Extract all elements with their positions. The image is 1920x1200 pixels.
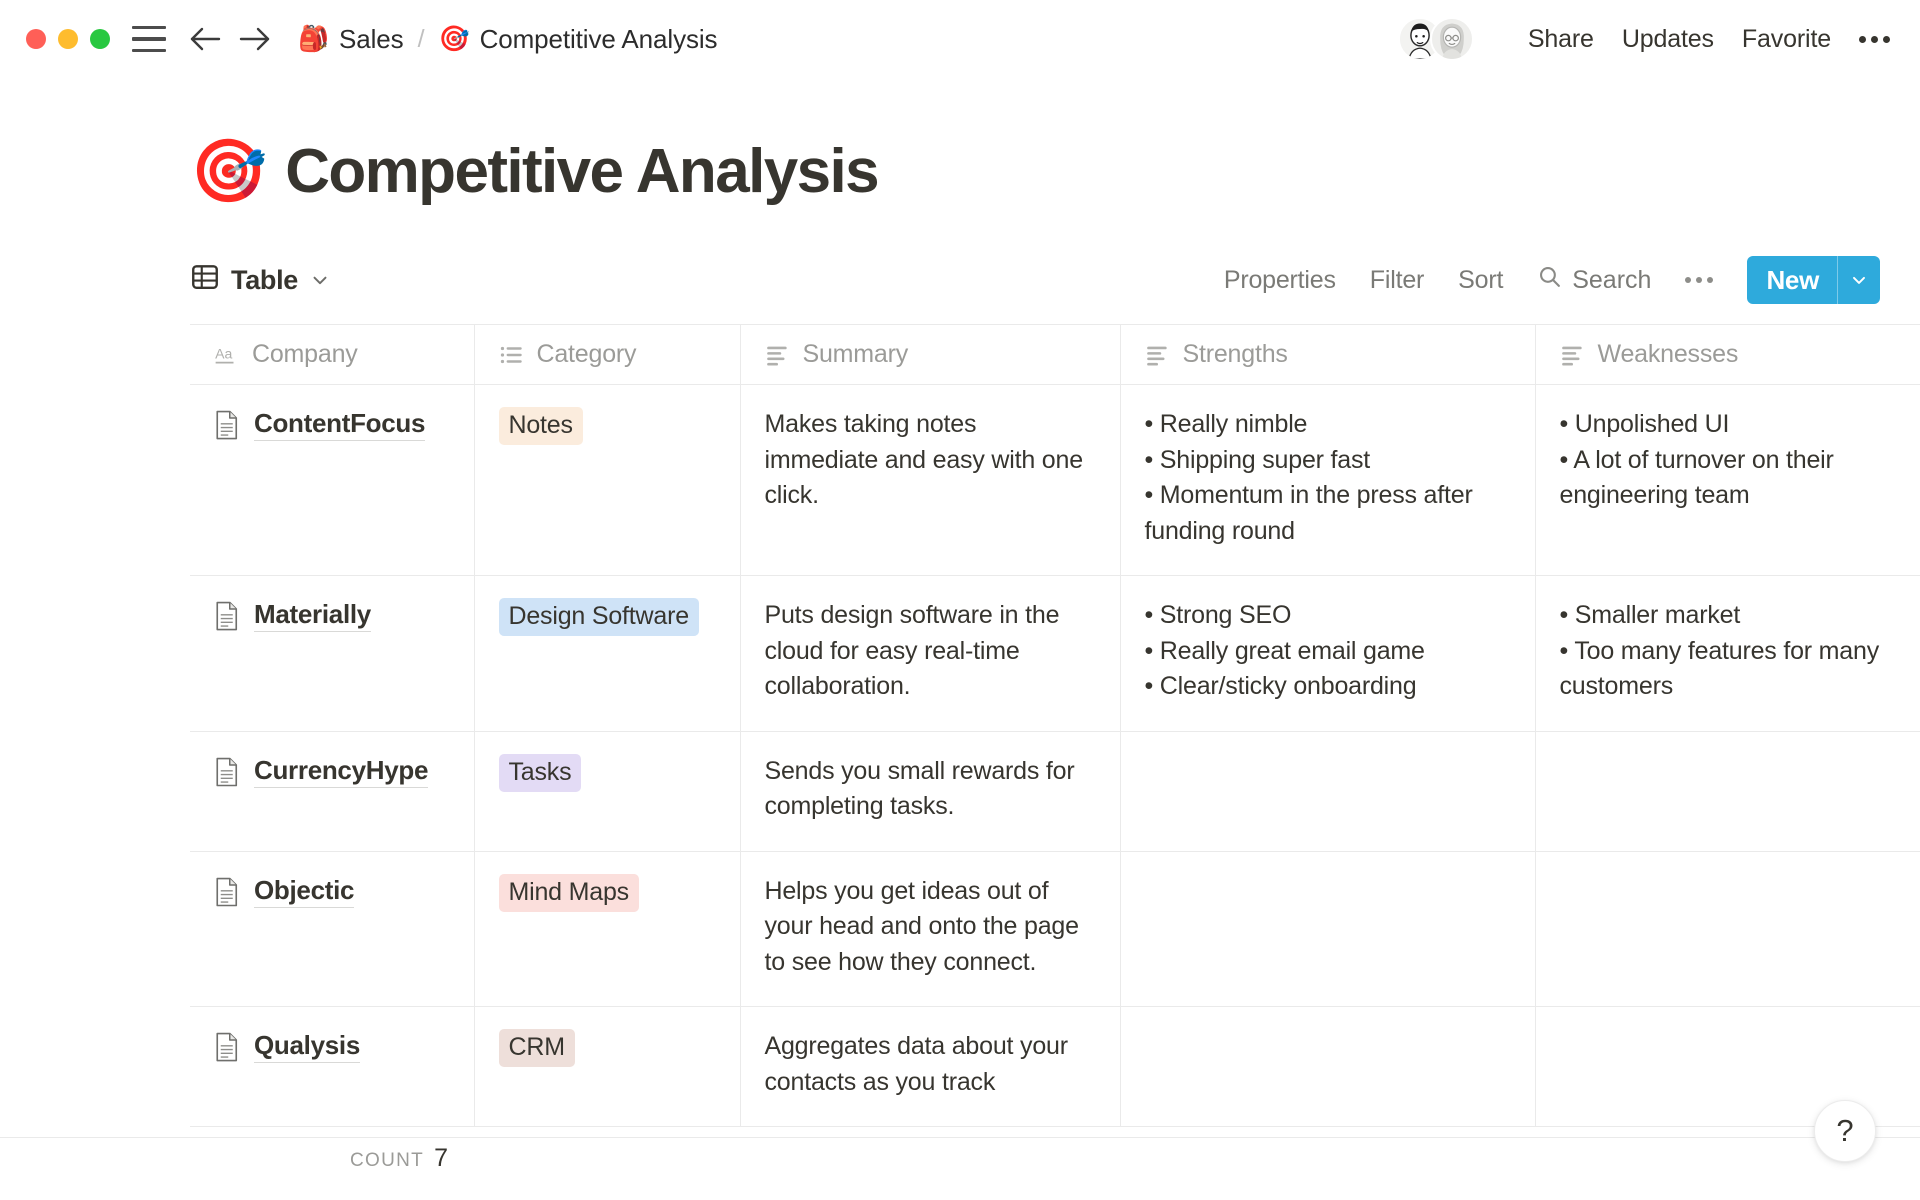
cell-summary[interactable]: Aggregates data about your contacts as y… xyxy=(740,1007,1120,1127)
cell-weaknesses[interactable]: • Smaller market • Too many features for… xyxy=(1535,576,1920,732)
help-button[interactable]: ? xyxy=(1814,1100,1876,1162)
breadcrumb-parent-label: Sales xyxy=(339,24,404,55)
breadcrumb-parent[interactable]: 🎒 Sales xyxy=(298,24,404,55)
category-tag: CRM xyxy=(499,1029,575,1067)
column-header-label: Summary xyxy=(803,340,909,369)
count-value: 7 xyxy=(434,1144,448,1173)
cell-category[interactable]: Tasks xyxy=(474,731,740,851)
company-cell-inner: Qualysis xyxy=(214,1029,450,1067)
column-header-company[interactable]: AaCompany xyxy=(190,325,474,385)
table-row[interactable]: CurrencyHypeTasksSends you small rewards… xyxy=(190,731,1920,851)
cell-company[interactable]: CurrencyHype xyxy=(190,731,474,851)
share-button[interactable]: Share xyxy=(1528,25,1594,54)
table-row[interactable]: MateriallyDesign SoftwarePuts design sof… xyxy=(190,576,1920,732)
table-icon xyxy=(190,262,220,299)
column-header-inner: Category xyxy=(499,340,740,369)
table-header-row: AaCompanyCategorySummaryStrengthsWeaknes… xyxy=(190,325,1920,385)
table-row[interactable]: ObjecticMind MapsHelps you get ideas out… xyxy=(190,851,1920,1007)
hamburger-icon[interactable] xyxy=(132,26,166,52)
cell-summary-text: Makes taking notes immediate and easy wi… xyxy=(765,407,1096,514)
company-cell-inner: Materially xyxy=(214,598,450,636)
cell-weaknesses[interactable] xyxy=(1535,731,1920,851)
cell-strengths[interactable] xyxy=(1120,731,1535,851)
more-options-icon[interactable] xyxy=(1859,36,1890,43)
tab-table-view-label: Table xyxy=(231,265,298,296)
column-header-inner: AaCompany xyxy=(214,340,474,369)
chevron-down-icon[interactable] xyxy=(309,269,331,291)
cell-summary-text: Puts design software in the cloud for ea… xyxy=(765,598,1096,705)
category-tag: Design Software xyxy=(499,598,699,636)
cell-summary-text: Helps you get ideas out of your head and… xyxy=(765,874,1096,981)
company-cell-inner: CurrencyHype xyxy=(214,754,450,792)
page-title: 🎯 Competitive Analysis xyxy=(0,78,1920,206)
tab-table-view[interactable]: Table xyxy=(190,262,331,299)
cell-summary[interactable]: Puts design software in the cloud for ea… xyxy=(740,576,1120,732)
column-header-label: Weaknesses xyxy=(1598,340,1739,369)
column-header-summary[interactable]: Summary xyxy=(740,325,1120,385)
favorite-button[interactable]: Favorite xyxy=(1742,25,1831,54)
company-name-link[interactable]: Qualysis xyxy=(254,1029,360,1063)
backpack-icon: 🎒 xyxy=(298,27,329,52)
cell-category[interactable]: Design Software xyxy=(474,576,740,732)
company-cell-inner: Objectic xyxy=(214,874,450,912)
title-bar: 🎒 Sales / 🎯 Competitive Analysis xyxy=(0,0,1920,78)
sort-button[interactable]: Sort xyxy=(1458,266,1503,295)
dart-icon: 🎯 xyxy=(439,27,470,52)
category-tag: Notes xyxy=(499,407,583,445)
search-button[interactable]: Search xyxy=(1537,264,1651,296)
updates-button[interactable]: Updates xyxy=(1622,25,1714,54)
title-property-icon: Aa xyxy=(214,342,240,368)
cell-strengths-text: • Strong SEO • Really great email game •… xyxy=(1145,598,1511,705)
view-more-options-icon[interactable] xyxy=(1685,277,1713,283)
database-table: AaCompanyCategorySummaryStrengthsWeaknes… xyxy=(190,324,1920,1127)
cell-summary[interactable]: Helps you get ideas out of your head and… xyxy=(740,851,1120,1007)
chevron-down-icon[interactable] xyxy=(1838,256,1880,304)
database-table-wrapper: AaCompanyCategorySummaryStrengthsWeaknes… xyxy=(0,324,1920,1127)
cell-category[interactable]: CRM xyxy=(474,1007,740,1127)
text-property-icon xyxy=(1560,342,1586,368)
select-property-icon xyxy=(499,342,525,368)
cell-category[interactable]: Mind Maps xyxy=(474,851,740,1007)
category-tag: Tasks xyxy=(499,754,582,792)
collaborator-avatars[interactable] xyxy=(1398,17,1474,61)
table-header: AaCompanyCategorySummaryStrengthsWeaknes… xyxy=(190,325,1920,385)
breadcrumb-current-label: Competitive Analysis xyxy=(480,24,718,55)
text-property-icon xyxy=(1145,342,1171,368)
column-header-label: Strengths xyxy=(1183,340,1288,369)
cell-strengths[interactable]: • Really nimble • Shipping super fast • … xyxy=(1120,385,1535,576)
table-row[interactable]: QualysisCRMAggregates data about your co… xyxy=(190,1007,1920,1127)
cell-strengths-text: • Really nimble • Shipping super fast • … xyxy=(1145,407,1511,549)
breadcrumb-separator: / xyxy=(418,25,425,54)
search-label: Search xyxy=(1572,266,1651,295)
column-header-weaknesses[interactable]: Weaknesses xyxy=(1535,325,1920,385)
dart-icon[interactable]: 🎯 xyxy=(190,141,267,203)
column-header-label: Company xyxy=(252,340,358,369)
minimize-window-button[interactable] xyxy=(58,29,78,49)
company-name-link[interactable]: ContentFocus xyxy=(254,407,425,441)
cell-summary-text: Sends you small rewards for completing t… xyxy=(765,754,1096,825)
cell-strengths[interactable] xyxy=(1120,851,1535,1007)
properties-button[interactable]: Properties xyxy=(1224,266,1336,295)
column-header-inner: Summary xyxy=(765,340,1120,369)
cell-company[interactable]: Objectic xyxy=(190,851,474,1007)
page-content: 🎯 Competitive Analysis Table xyxy=(0,78,1920,1189)
database-toolbar: Table Properties Filter Sort Se xyxy=(0,250,1920,310)
cell-summary[interactable]: Makes taking notes immediate and easy wi… xyxy=(740,385,1120,576)
arrow-left-icon[interactable] xyxy=(188,24,222,54)
breadcrumb-current[interactable]: 🎯 Competitive Analysis xyxy=(439,24,718,55)
page-document-icon xyxy=(214,601,240,636)
avatar[interactable] xyxy=(1430,17,1474,61)
cell-category[interactable]: Notes xyxy=(474,385,740,576)
company-cell-inner: ContentFocus xyxy=(214,407,450,445)
table-row[interactable]: ContentFocusNotesMakes taking notes imme… xyxy=(190,385,1920,576)
column-header-strengths[interactable]: Strengths xyxy=(1120,325,1535,385)
column-header-inner: Strengths xyxy=(1145,340,1535,369)
cell-company[interactable]: Materially xyxy=(190,576,474,732)
question-mark-icon: ? xyxy=(1836,1113,1853,1149)
category-tag: Mind Maps xyxy=(499,874,639,912)
company-name-link[interactable]: CurrencyHype xyxy=(254,754,428,788)
cell-strengths[interactable]: • Strong SEO • Really great email game •… xyxy=(1120,576,1535,732)
column-header-inner: Weaknesses xyxy=(1560,340,1920,369)
cell-company[interactable]: ContentFocus xyxy=(190,385,474,576)
table-bottom-divider xyxy=(0,1137,1920,1138)
svg-text:Aa: Aa xyxy=(215,345,232,361)
cell-summary-text: Aggregates data about your contacts as y… xyxy=(765,1029,1096,1100)
cell-weaknesses-text: • Smaller market • Too many features for… xyxy=(1560,598,1897,705)
cell-company[interactable]: Qualysis xyxy=(190,1007,474,1127)
count-label: COUNT xyxy=(350,1150,424,1172)
column-header-label: Category xyxy=(537,340,637,369)
arrow-right-icon[interactable] xyxy=(238,24,272,54)
page-document-icon xyxy=(214,757,240,792)
company-name-link[interactable]: Materially xyxy=(254,598,371,632)
close-window-button[interactable] xyxy=(26,29,46,49)
cell-weaknesses[interactable] xyxy=(1535,851,1920,1007)
cell-strengths[interactable] xyxy=(1120,1007,1535,1127)
cell-summary[interactable]: Sends you small rewards for completing t… xyxy=(740,731,1120,851)
table-body: ContentFocusNotesMakes taking notes imme… xyxy=(190,385,1920,1127)
page-title-text[interactable]: Competitive Analysis xyxy=(285,138,878,206)
text-property-icon xyxy=(765,342,791,368)
new-record-button[interactable]: New xyxy=(1747,256,1880,304)
page-document-icon xyxy=(214,877,240,912)
cell-weaknesses[interactable]: • Unpolished UI • A lot of turnover on t… xyxy=(1535,385,1920,576)
count-summary[interactable]: COUNT 7 xyxy=(190,1144,448,1173)
traffic-lights xyxy=(26,29,110,49)
app-window: 🎒 Sales / 🎯 Competitive Analysis xyxy=(0,0,1920,1200)
search-icon xyxy=(1537,264,1562,296)
page-document-icon xyxy=(214,1032,240,1067)
page-document-icon xyxy=(214,410,240,445)
filter-button[interactable]: Filter xyxy=(1370,266,1424,295)
column-header-category[interactable]: Category xyxy=(474,325,740,385)
cell-weaknesses-text: • Unpolished UI • A lot of turnover on t… xyxy=(1560,407,1897,514)
zoom-window-button[interactable] xyxy=(90,29,110,49)
new-record-label: New xyxy=(1747,256,1837,304)
company-name-link[interactable]: Objectic xyxy=(254,874,354,908)
